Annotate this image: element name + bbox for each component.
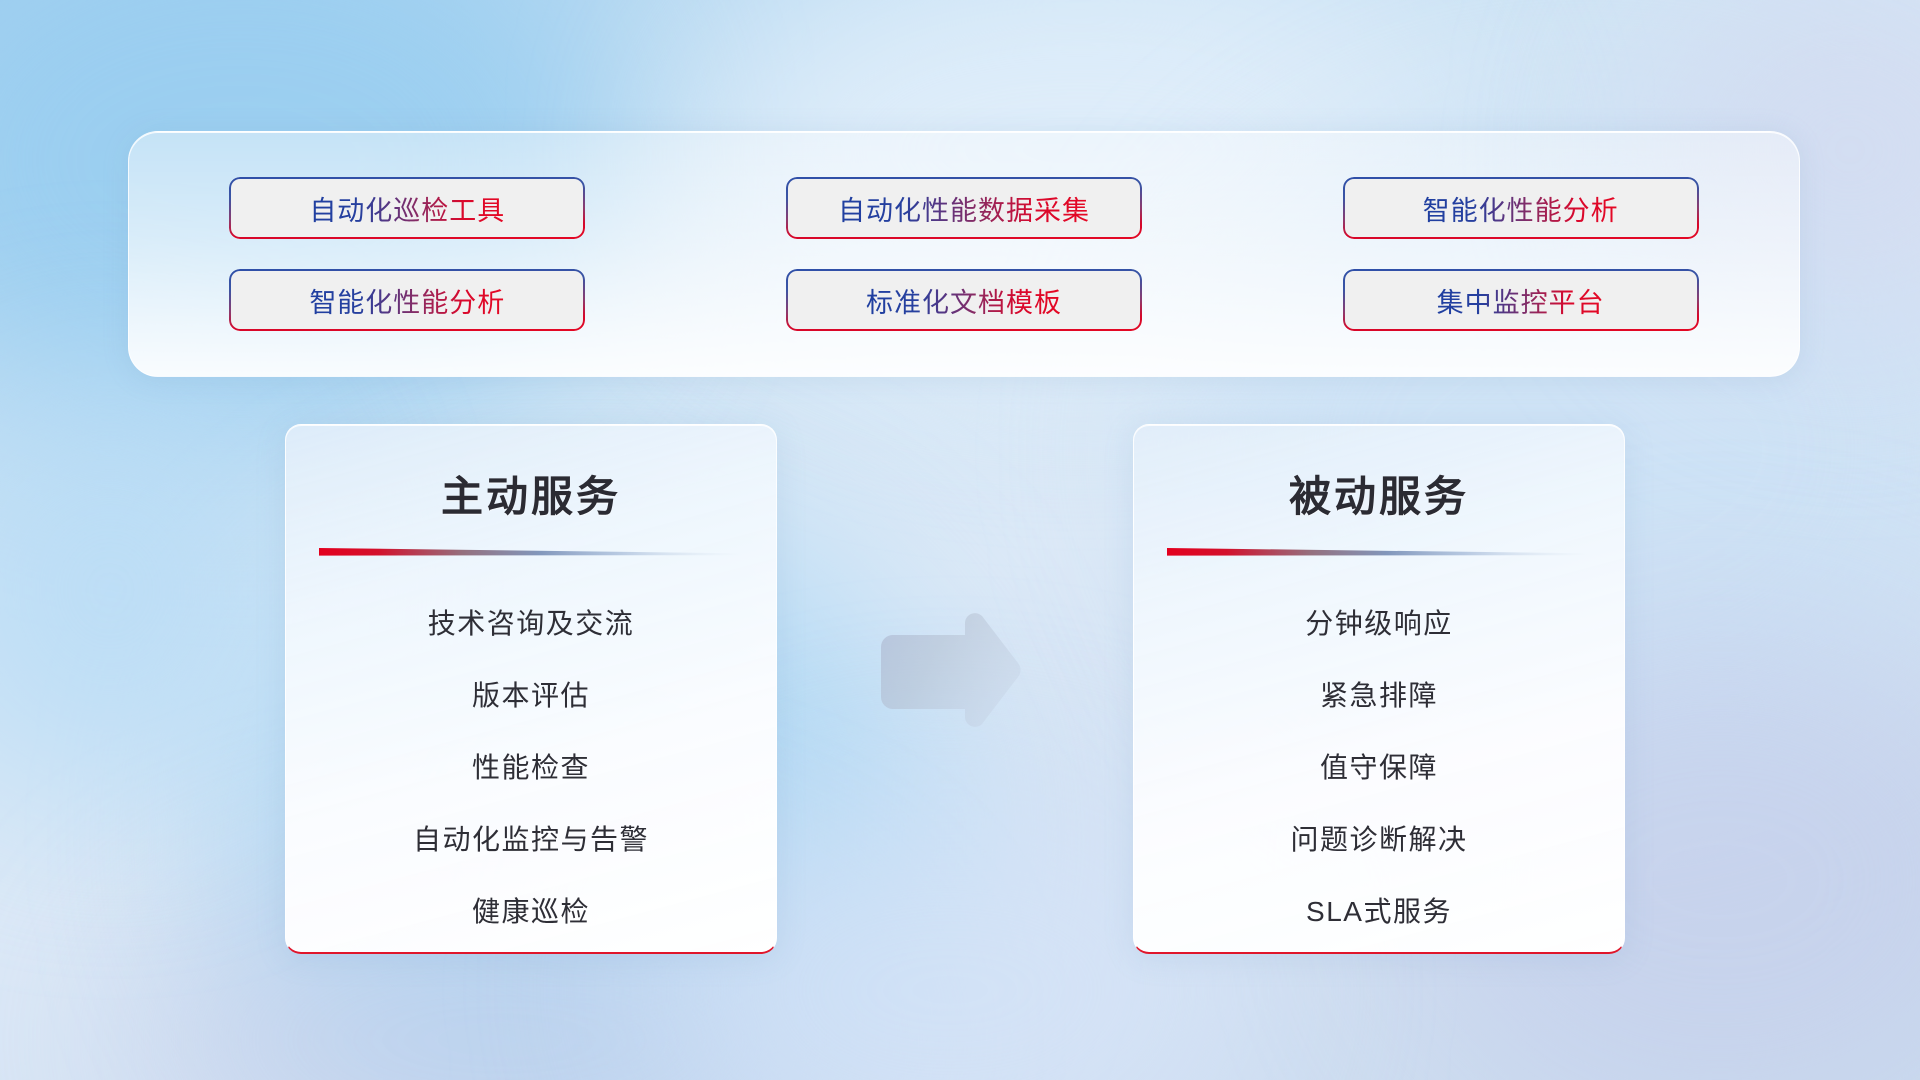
capability-tag-intelligent-performance-analysis-2[interactable]: 智能化性能分析 bbox=[229, 269, 585, 331]
capability-tag-automated-inspection-tool[interactable]: 自动化巡检工具 bbox=[229, 177, 585, 239]
arrow-right-icon bbox=[869, 611, 1029, 733]
list-item: SLA式服务 bbox=[1306, 876, 1452, 948]
capability-tag-intelligent-performance-analysis[interactable]: 智能化性能分析 bbox=[1343, 177, 1699, 239]
capability-cell: 智能化性能分析 bbox=[129, 269, 686, 331]
capability-tag-automated-performance-data-collection[interactable]: 自动化性能数据采集 bbox=[786, 177, 1142, 239]
list-item: 分钟级响应 bbox=[1305, 588, 1453, 660]
capability-tag-label: 自动化巡检工具 bbox=[309, 189, 505, 228]
card-divider bbox=[319, 546, 743, 560]
list-item: 健康巡检 bbox=[472, 876, 590, 948]
service-card-proactive: 主动服务 技术咨询及交流 版本评估 性能检查 自动化监控与告警 健康巡检 bbox=[285, 424, 777, 954]
capabilities-row-1: 自动化巡检工具 自动化性能数据采集 智能化性能分析 bbox=[129, 177, 1799, 239]
list-item: 自动化监控与告警 bbox=[413, 804, 649, 876]
list-item: 性能检查 bbox=[472, 732, 590, 804]
card-item-list: 技术咨询及交流 版本评估 性能检查 自动化监控与告警 健康巡检 bbox=[286, 588, 776, 948]
card-title: 主动服务 bbox=[441, 463, 621, 524]
list-item: 值守保障 bbox=[1320, 732, 1438, 804]
capabilities-panel: 自动化巡检工具 自动化性能数据采集 智能化性能分析 智能化性能分析 标准化文档模… bbox=[128, 131, 1800, 377]
capability-cell: 自动化性能数据采集 bbox=[686, 177, 1243, 239]
capability-tag-label: 标准化文档模板 bbox=[866, 281, 1062, 320]
card-item-list: 分钟级响应 紧急排障 值守保障 问题诊断解决 SLA式服务 bbox=[1134, 588, 1624, 948]
capability-cell: 集中监控平台 bbox=[1242, 269, 1799, 331]
capabilities-row-2: 智能化性能分析 标准化文档模板 集中监控平台 bbox=[129, 269, 1799, 331]
list-item: 版本评估 bbox=[472, 660, 590, 732]
capability-tag-centralized-monitoring-platform[interactable]: 集中监控平台 bbox=[1343, 269, 1699, 331]
card-title: 被动服务 bbox=[1289, 463, 1469, 524]
capability-tag-label: 自动化性能数据采集 bbox=[838, 189, 1090, 228]
list-item: 问题诊断解决 bbox=[1290, 804, 1467, 876]
card-divider bbox=[1167, 546, 1591, 560]
capability-tag-label: 智能化性能分析 bbox=[1423, 189, 1619, 228]
capability-cell: 标准化文档模板 bbox=[686, 269, 1243, 331]
capability-tag-label: 智能化性能分析 bbox=[309, 281, 505, 320]
list-item: 技术咨询及交流 bbox=[428, 588, 635, 660]
capability-cell: 智能化性能分析 bbox=[1242, 177, 1799, 239]
list-item: 紧急排障 bbox=[1320, 660, 1438, 732]
service-card-reactive: 被动服务 分钟级响应 紧急排障 值守保障 问题诊断解决 SLA式服务 bbox=[1133, 424, 1625, 954]
capability-cell: 自动化巡检工具 bbox=[129, 177, 686, 239]
capability-tag-standardized-document-template[interactable]: 标准化文档模板 bbox=[786, 269, 1142, 331]
capability-tag-label: 集中监控平台 bbox=[1437, 281, 1605, 320]
